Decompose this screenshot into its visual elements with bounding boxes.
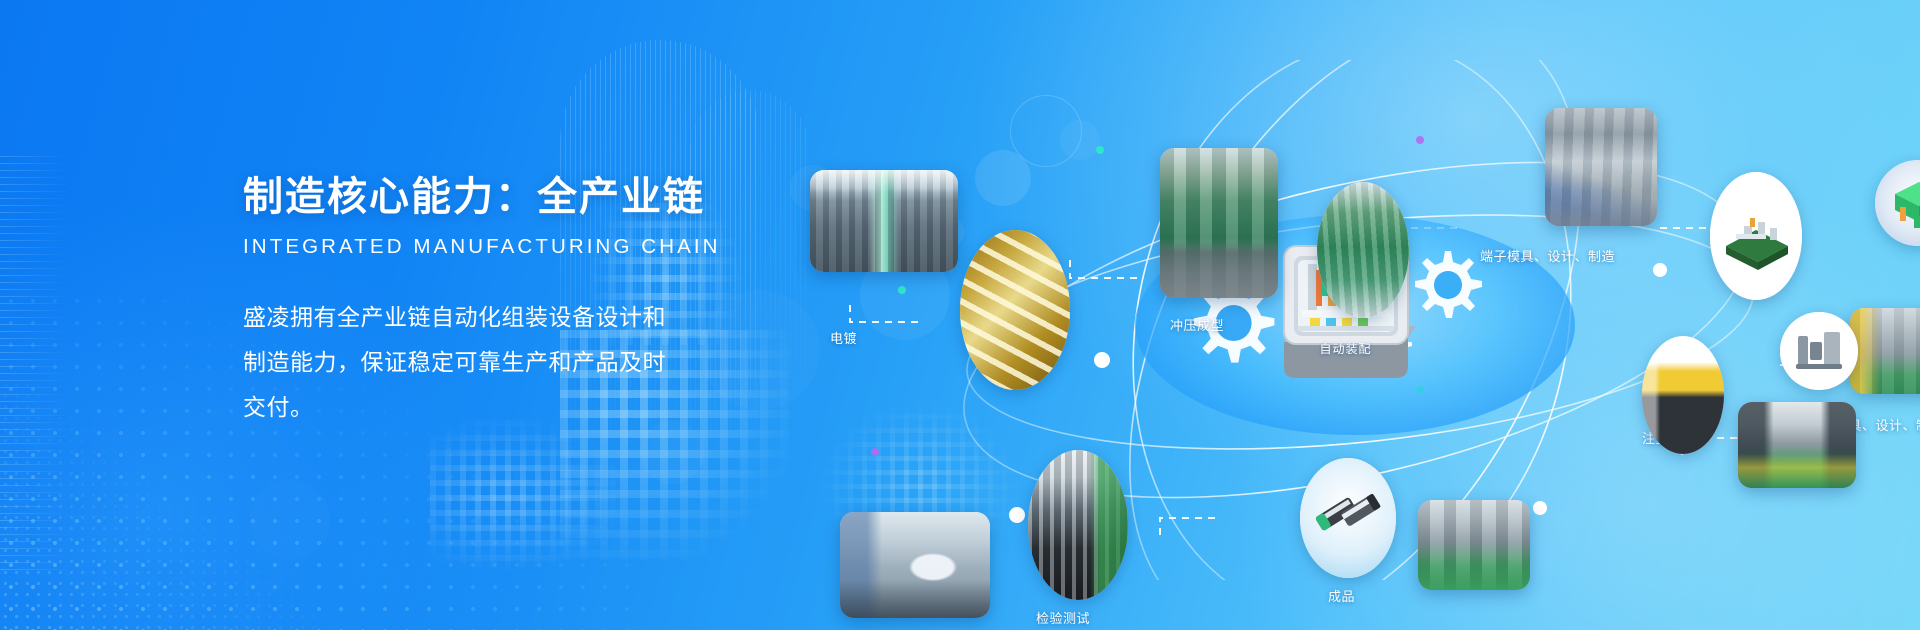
connector-product-illustration <box>1300 458 1396 578</box>
injection-mold-tool-illustration <box>1780 312 1858 390</box>
line-streaks-decoration <box>0 150 70 570</box>
page-subtitle: INTEGRATED MANUFACTURING CHAIN <box>243 235 713 259</box>
node-photo-injection-mold[interactable] <box>1850 308 1920 394</box>
node-label-terminal-mold: 端子模具、设计、制造 <box>1480 246 1615 265</box>
bokeh-circle <box>250 480 330 560</box>
3d-model-illustration <box>1875 160 1920 246</box>
photo-detail <box>1160 148 1278 298</box>
node-label-stamping: 冲压成型 <box>1170 315 1224 334</box>
photo-detail <box>960 230 1070 390</box>
node-photo-terminal-mold[interactable] <box>1545 108 1657 226</box>
node-icon-finished-product[interactable] <box>1300 458 1396 578</box>
node-icon-mold-base[interactable] <box>1710 172 1802 300</box>
photo-detail <box>1028 450 1128 600</box>
node-icon-stamping-machine[interactable] <box>1317 182 1409 318</box>
manufacturing-capability-banner: 制造核心能力：全产业链 INTEGRATED MANUFACTURING CHA… <box>0 0 1920 630</box>
node-icon-plating-coil[interactable] <box>960 230 1070 390</box>
node-icon-injection-machine[interactable] <box>1642 336 1724 454</box>
node-photo-inspection-operator[interactable] <box>840 512 990 618</box>
page-title: 制造核心能力：全产业链 <box>243 175 713 219</box>
node-label-inspection: 检验测试 <box>1036 608 1090 627</box>
node-photo-assembly-line[interactable] <box>1418 500 1530 590</box>
photo-detail <box>840 512 990 618</box>
node-photo-stamping[interactable] <box>1160 148 1278 298</box>
bokeh-circle <box>640 420 704 484</box>
photo-detail <box>1850 308 1920 394</box>
node-label-finished-product: 成品 <box>1328 586 1355 605</box>
photo-detail <box>1317 182 1409 318</box>
banner-copy: 制造核心能力：全产业链 INTEGRATED MANUFACTURING CHA… <box>243 175 713 430</box>
node-icon-inspection-fixture[interactable] <box>1028 450 1128 600</box>
node-icon-injection-mold-tool[interactable] <box>1780 312 1858 390</box>
mold-base-illustration <box>1710 172 1802 300</box>
square-grid-decoration-c <box>430 420 620 570</box>
photo-detail <box>1418 500 1530 590</box>
node-photo-electroplating[interactable] <box>810 170 958 272</box>
photo-detail <box>1545 108 1657 226</box>
hub-label: 自动装配 <box>1258 340 1433 357</box>
node-icon-3d-model[interactable] <box>1875 160 1920 246</box>
node-photo-injection-forming[interactable] <box>1738 402 1856 488</box>
photo-detail <box>810 170 958 272</box>
photo-detail <box>1738 402 1856 488</box>
photo-detail <box>1642 336 1724 454</box>
node-label-electroplating: 电镀 <box>830 328 857 347</box>
manufacturing-chain-diagram: 自动装配 电镀 冲压成型 <box>780 60 1920 580</box>
banner-description: 盛凌拥有全产业链自动化组装设备设计和制造能力，保证稳定可靠生产和产品及时交付。 <box>243 295 683 430</box>
